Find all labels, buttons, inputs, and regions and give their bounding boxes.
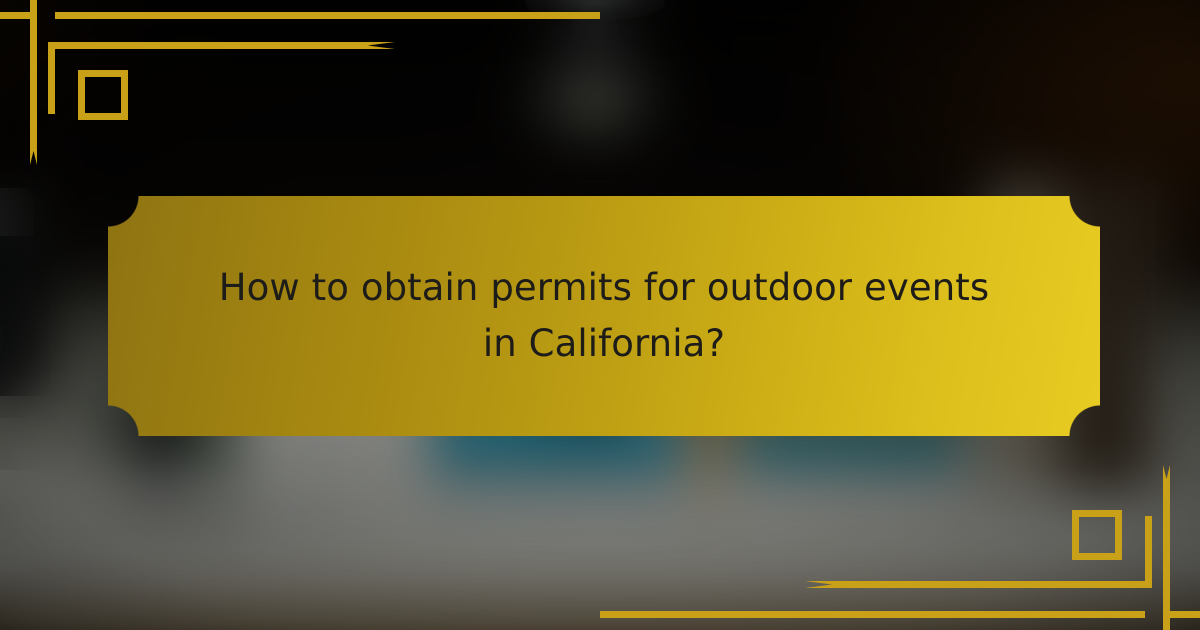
corner-tl-bar-h-long [55, 12, 600, 19]
corner-br-bar-h-long [600, 611, 1145, 618]
corner-tl-bar-v-mid [48, 42, 55, 114]
corner-tl-bar-h-short [0, 12, 35, 19]
corner-br-bar-v-mid [1145, 516, 1152, 588]
corner-br-bar-h-short [1165, 611, 1200, 618]
corner-tl-bar-v-long [30, 0, 37, 165]
corner-tl-square [78, 70, 128, 120]
corner-br-bar-h-mid [805, 581, 1145, 588]
promo-card-canvas: How to obtain permits for outdoor events… [0, 0, 1200, 630]
corner-ornament-top-left [0, 0, 200, 200]
corner-tl-bar-h-mid [55, 42, 395, 49]
title-card: How to obtain permits for outdoor events… [108, 196, 1100, 436]
corner-ornament-bottom-right [1000, 430, 1200, 630]
page-title: How to obtain permits for outdoor events… [204, 260, 1004, 372]
corner-br-bar-v-long [1163, 465, 1170, 630]
corner-br-square [1072, 510, 1122, 560]
